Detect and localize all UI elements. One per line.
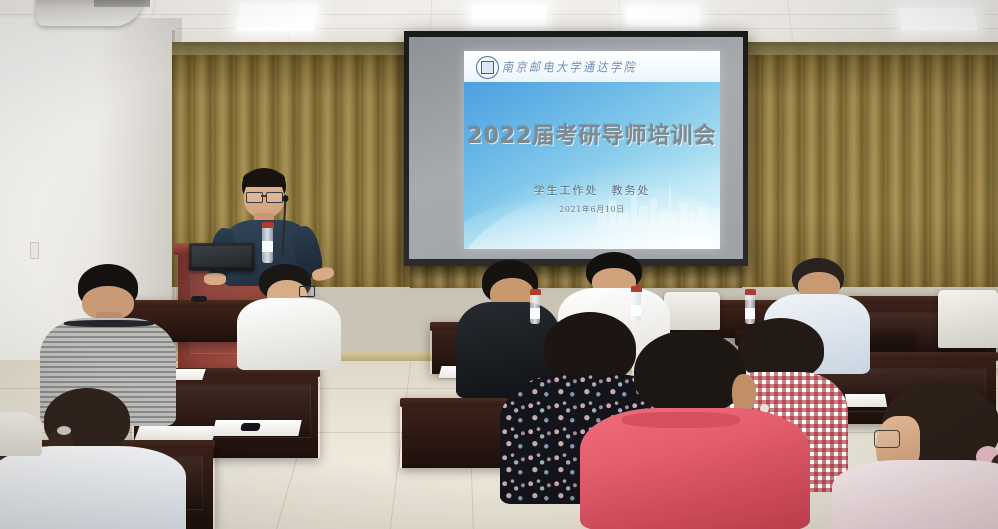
hair [738,318,824,380]
glasses [299,286,315,297]
water-bottle [631,291,641,321]
bottle-label [631,305,641,316]
handout-paper [134,426,217,440]
torso [832,460,998,529]
ceiling-light [626,6,699,26]
water-bottle [745,294,755,324]
bag [0,412,42,456]
bottle-cap [262,222,274,228]
laptop-screen [192,246,251,267]
slide-date: 2021年6月10日 [464,204,720,215]
slide-header: 南京邮电大学通达学院 [464,51,720,82]
ceiling-light [898,8,977,30]
mobile-phone [240,423,261,431]
speaker-hair-top [243,170,285,187]
air-conditioner-unit [36,0,144,26]
bottle-cap [631,286,642,292]
ceiling-light [471,5,546,26]
water-bottle [530,294,540,324]
presentation-slide: 南京邮电大学通达学院 [464,51,720,249]
laptop [189,243,254,272]
slide-school-name: 南京邮电大学通达学院 [502,58,702,76]
speaker-glasses [246,192,263,203]
torso [237,298,341,370]
screen-surface: 南京邮电大学通达学院 [409,37,743,259]
polo-collar [622,412,740,428]
slide-departments: 学生工作处 教务处 [464,182,720,198]
bottle-label [262,241,273,252]
university-crest-icon [476,56,499,79]
hair [634,330,746,414]
water-bottle [262,227,273,263]
bottle-label [530,308,540,319]
projector-screen: 南京邮电大学通达学院 [404,31,748,266]
bottle-label [745,308,755,319]
light-switch[interactable] [30,242,39,259]
ac-vent-icon [94,0,150,7]
ear [732,374,756,412]
mobile-phone [191,296,207,302]
bottle-cap [745,289,756,295]
lecture-room-photo: 南京邮电大学通达学院 [0,0,998,529]
handout-paper [845,394,887,407]
chair [938,290,998,348]
curtain-right [740,42,998,287]
bottle-cap [530,289,541,295]
chair [664,292,720,330]
polo-collar [64,320,154,327]
hair-tie [57,426,71,435]
slide-body: 2022届考研导师培训会 学生工作处 教务处 2021年6月10日 [464,82,720,249]
speaker-glasses [266,192,283,203]
ceiling-light [236,3,318,31]
torso [0,446,186,529]
glasses [874,430,900,448]
slide-title: 2022届考研导师培训会 [464,118,720,150]
